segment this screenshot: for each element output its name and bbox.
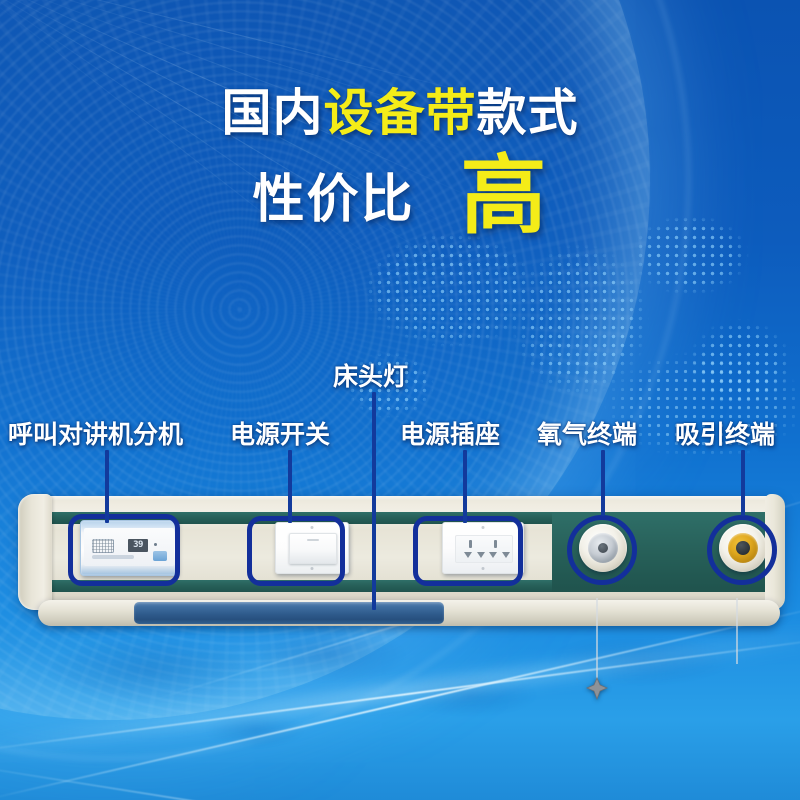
headline-subtext: 性价比 (252, 157, 414, 232)
product-poster: 国内设备带款式 性价比 高 呼叫对讲机分机 电源开关 床头灯 电源插座 氧气终端… (0, 0, 800, 800)
headline-text-suffix: 款式 (477, 84, 579, 142)
poster-headline: 国内设备带款式 性价比 高 (0, 86, 800, 236)
callout-label-switch: 电源开关 (230, 415, 330, 451)
callout-label-suction: 吸引终端 (675, 415, 775, 451)
headline-text-prefix: 国内 (222, 84, 324, 142)
callout-label-oxygen: 氧气终端 (537, 415, 637, 451)
callout-label-intercom: 呼叫对讲机分机 (8, 415, 183, 451)
headline-line-2: 性价比 高 (0, 157, 800, 236)
headline-line-1: 国内设备带款式 (0, 86, 800, 141)
headline-text-accent: 设备带 (324, 84, 477, 142)
callout-label-bedlamp: 床头灯 (333, 357, 408, 393)
callout-label-socket: 电源插座 (400, 415, 500, 451)
headline-bigword: 高 (461, 157, 548, 236)
